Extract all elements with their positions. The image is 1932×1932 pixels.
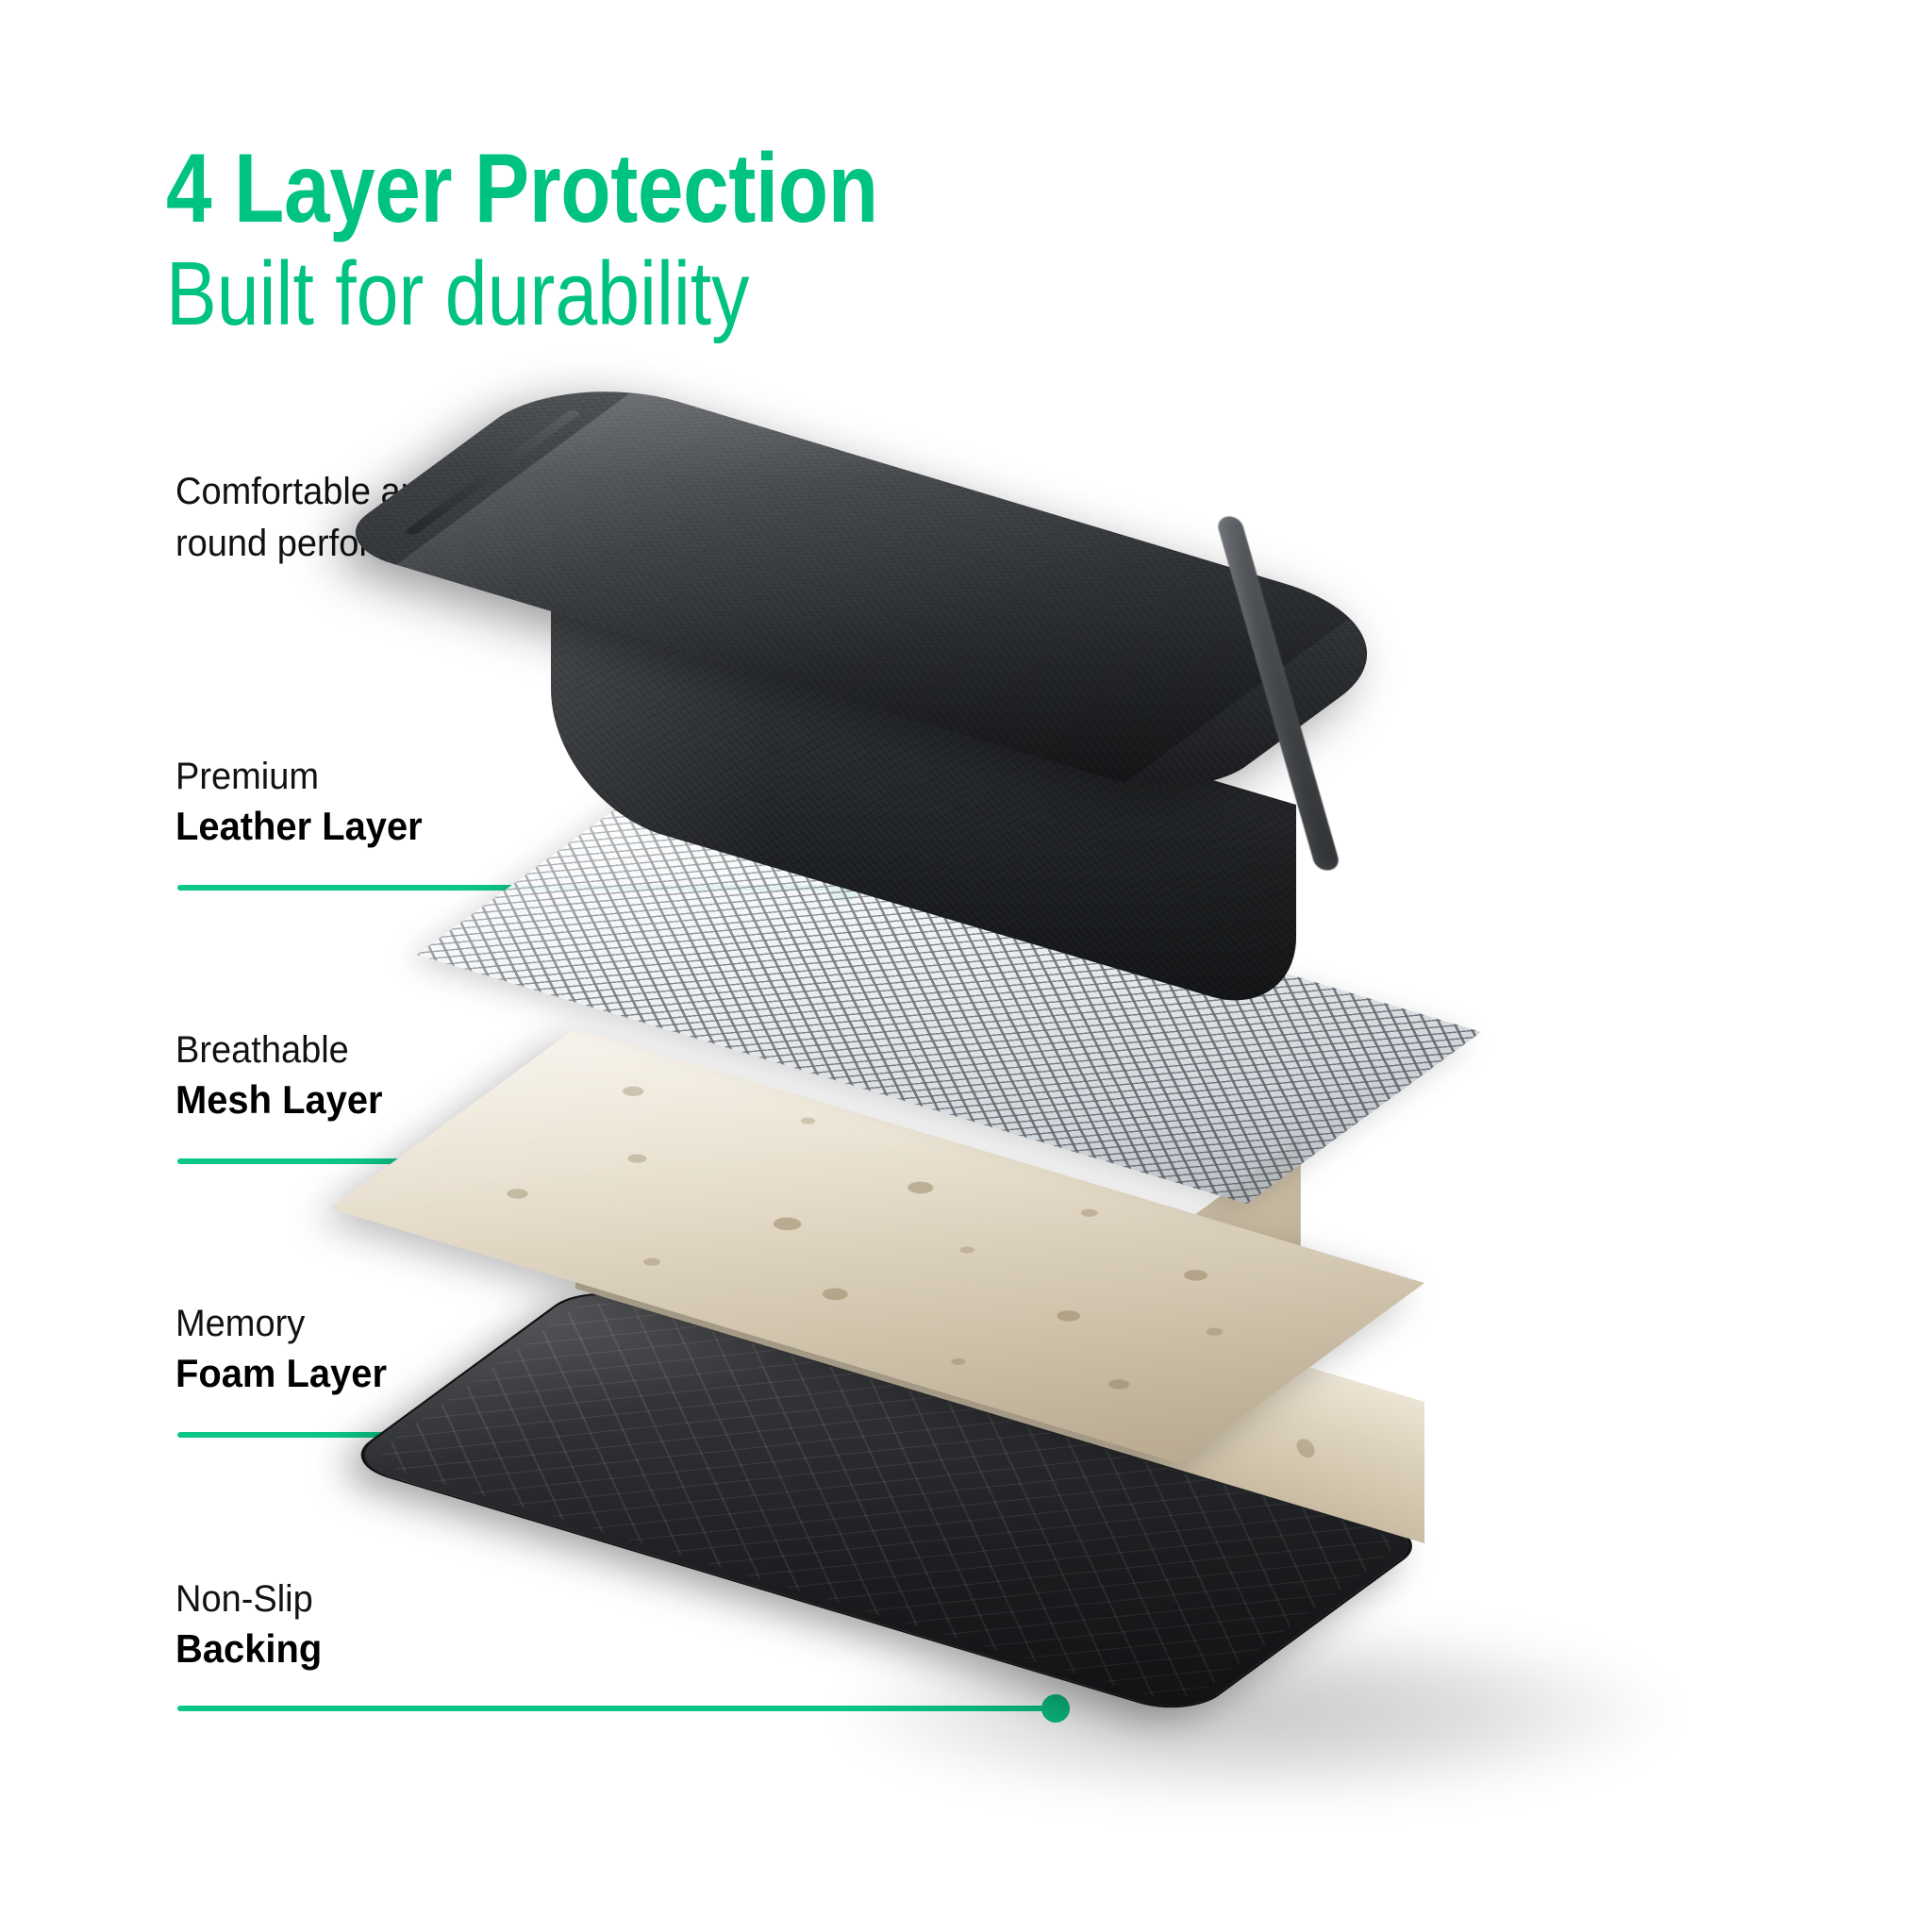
header: 4 Layer Protection Built for durability (166, 140, 1298, 342)
product-exploded-view (604, 377, 1906, 1849)
page-title: 4 Layer Protection (166, 140, 1117, 238)
product-layer-leather (566, 368, 1623, 972)
infographic-page: 4 Layer Protection Built for durability … (0, 0, 1932, 1932)
page-subtitle: Built for durability (166, 247, 1117, 342)
